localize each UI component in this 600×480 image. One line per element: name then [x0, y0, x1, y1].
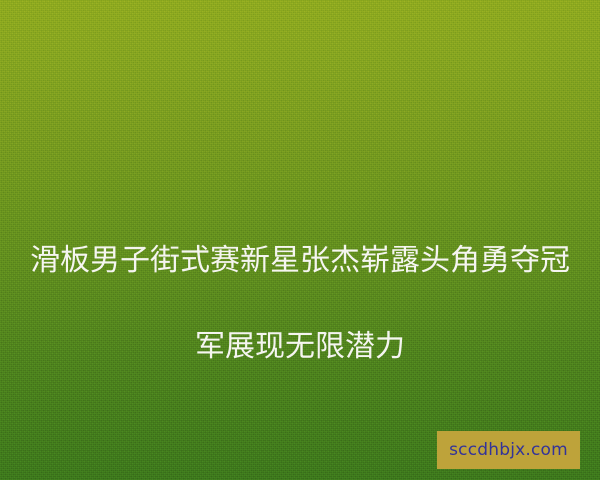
watermark-badge: sccdhbjx.com	[437, 431, 580, 469]
page-title: 滑板男子街式赛新星张杰崭露头角勇夺冠 军展现无限潜力	[0, 196, 600, 411]
poster-canvas: 滑板男子街式赛新星张杰崭露头角勇夺冠 军展现无限潜力 sccdhbjx.com	[0, 0, 600, 480]
watermark-domain-text: sccdhbjx.com	[449, 442, 568, 459]
page-title-line-2: 军展现无限潜力	[0, 325, 600, 368]
page-title-line-1: 滑板男子街式赛新星张杰崭露头角勇夺冠	[0, 239, 600, 282]
